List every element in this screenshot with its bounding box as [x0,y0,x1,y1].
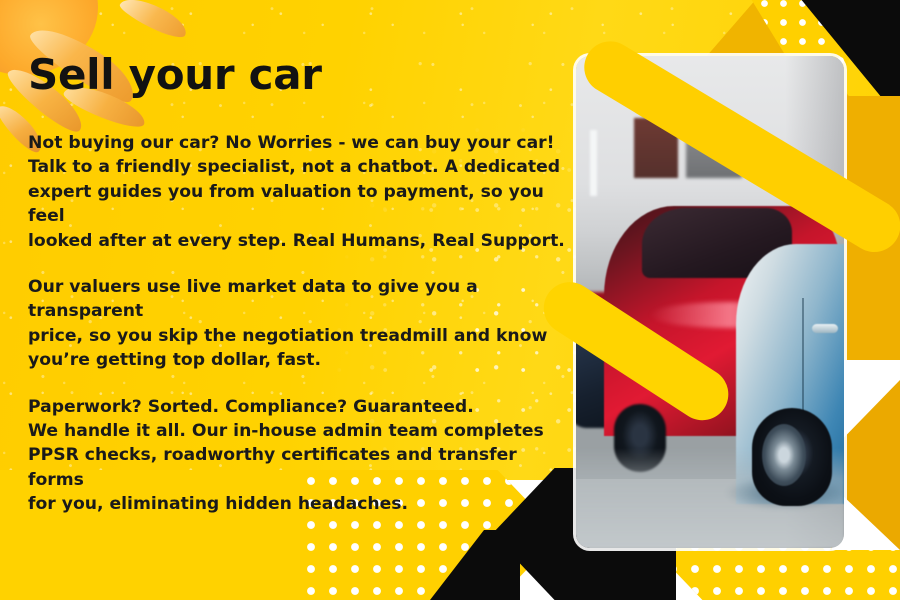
body-copy: Not buying our car? No Worries - we can … [28,131,568,517]
paragraph-intro: Not buying our car? No Worries - we can … [28,131,568,253]
paragraph-paperwork: Paperwork? Sorted. Compliance? Guarantee… [28,395,568,517]
sell-your-car-poster: Sell your car Not buying our car? No Wor… [0,0,900,600]
page-title: Sell your car [28,54,322,96]
paragraph-valuation: Our valuers use live market data to give… [28,275,568,373]
photo-wheel-rim [762,424,806,486]
photo-blue-car-door-handle [812,324,838,333]
photo-ceiling-light [590,130,597,196]
